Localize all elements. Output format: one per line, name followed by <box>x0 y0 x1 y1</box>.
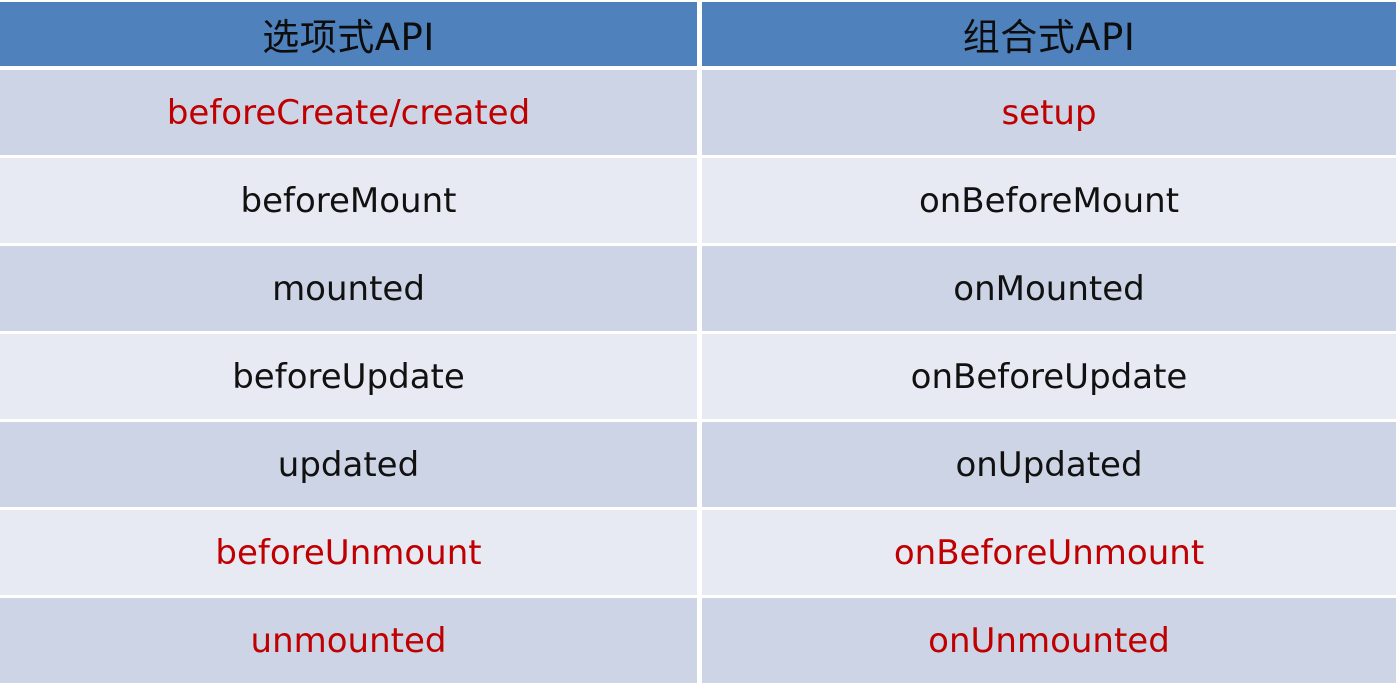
column-header-options-api: 选项式API <box>0 2 697 66</box>
cell-composition-api: onBeforeMount <box>702 158 1396 243</box>
cell-composition-api: onBeforeUpdate <box>702 334 1396 419</box>
column-header-composition-api-label: 组合式API <box>963 7 1136 61</box>
cell-value: beforeMount <box>241 184 457 218</box>
cell-composition-api: onMounted <box>702 246 1396 331</box>
cell-composition-api: onBeforeUnmount <box>702 510 1396 595</box>
cell-value: beforeUpdate <box>232 360 465 394</box>
cell-value: beforeCreate/created <box>167 96 530 130</box>
table-row: beforeUpdate onBeforeUpdate <box>0 334 1400 419</box>
table-row: beforeUnmount onBeforeUnmount <box>0 510 1400 595</box>
cell-value: onUpdated <box>955 448 1142 482</box>
cell-value: updated <box>278 448 419 482</box>
cell-options-api: unmounted <box>0 598 697 683</box>
cell-options-api: beforeUnmount <box>0 510 697 595</box>
cell-value: onBeforeUnmount <box>894 536 1204 570</box>
cell-value: mounted <box>272 272 425 306</box>
cell-options-api: mounted <box>0 246 697 331</box>
table-row: beforeMount onBeforeMount <box>0 158 1400 243</box>
cell-options-api: updated <box>0 422 697 507</box>
table-row: beforeCreate/created setup <box>0 70 1400 155</box>
cell-value: onBeforeUpdate <box>911 360 1188 394</box>
cell-composition-api: onUnmounted <box>702 598 1396 683</box>
table-header-row: 选项式API 组合式API <box>0 2 1400 66</box>
cell-value: onBeforeMount <box>919 184 1179 218</box>
cell-value: onMounted <box>953 272 1144 306</box>
cell-value: setup <box>1001 96 1096 130</box>
cell-value: onUnmounted <box>928 624 1170 658</box>
cell-options-api: beforeMount <box>0 158 697 243</box>
table-row: unmounted onUnmounted <box>0 598 1400 683</box>
cell-value: unmounted <box>251 624 447 658</box>
cell-options-api: beforeUpdate <box>0 334 697 419</box>
lifecycle-hooks-comparison-table: 选项式API 组合式API beforeCreate/created setup… <box>0 0 1400 670</box>
cell-composition-api: setup <box>702 70 1396 155</box>
table-row: mounted onMounted <box>0 246 1400 331</box>
cell-options-api: beforeCreate/created <box>0 70 697 155</box>
column-header-options-api-label: 选项式API <box>262 7 435 61</box>
table-row: updated onUpdated <box>0 422 1400 507</box>
column-header-composition-api: 组合式API <box>702 2 1396 66</box>
cell-composition-api: onUpdated <box>702 422 1396 507</box>
cell-value: beforeUnmount <box>215 536 481 570</box>
